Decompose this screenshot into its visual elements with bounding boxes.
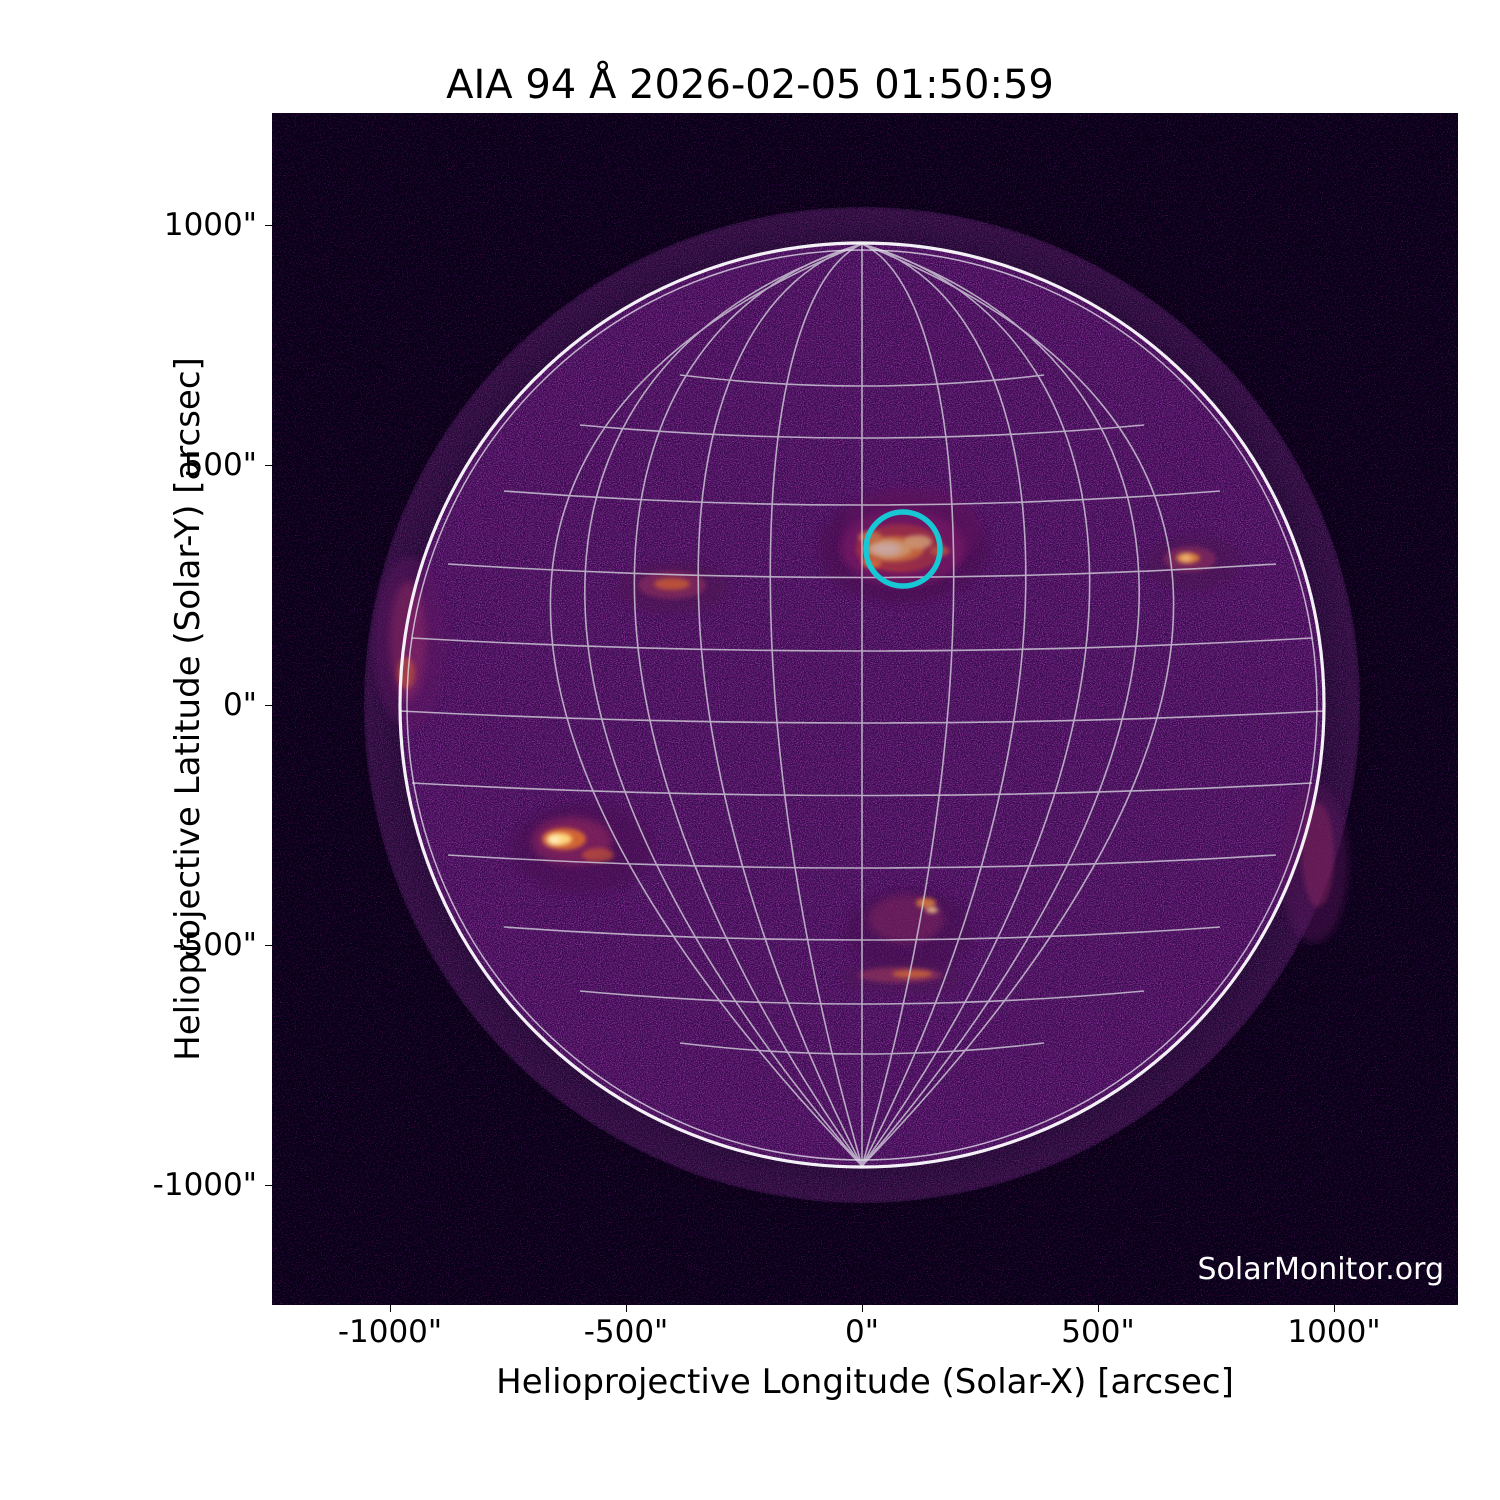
x-tick-mark [1098,1305,1099,1312]
active-region-west-north [1146,535,1242,591]
x-tick-mark [626,1305,627,1312]
active-region-east-limb [374,557,446,729]
aia-94-solar-disk-image [272,113,1458,1305]
y-axis-label: Helioprojective Latitude (Solar-Y) [arcs… [168,113,208,1305]
solarmonitor-watermark: SolarMonitor.org [1198,1252,1444,1287]
x-tick-label: 1000" [1287,1314,1380,1350]
y-tick-mark [265,465,272,466]
x-tick-mark [862,1305,863,1312]
active-region-southwest [510,802,654,894]
y-tick-mark [265,1185,272,1186]
y-tick-label: 0" [223,687,257,723]
page-title: AIA 94 Å 2026-02-05 01:50:59 [0,62,1500,108]
solar-image-figure: AIA 94 Å 2026-02-05 01:50:59 [0,0,1500,1500]
y-tick-mark [265,705,272,706]
x-tick-label: 500" [1061,1314,1134,1350]
x-tick-mark [1334,1305,1335,1312]
x-tick-label: 0" [845,1314,879,1350]
y-tick-mark [265,225,272,226]
x-tick-label: -500" [584,1314,669,1350]
x-axis-label: Helioprojective Longitude (Solar-X) [arc… [272,1362,1458,1402]
x-tick-label: -1000" [338,1314,442,1350]
y-tick-mark [265,945,272,946]
image-plot-area[interactable]: SolarMonitor.org [272,113,1458,1305]
x-tick-mark [390,1305,391,1312]
